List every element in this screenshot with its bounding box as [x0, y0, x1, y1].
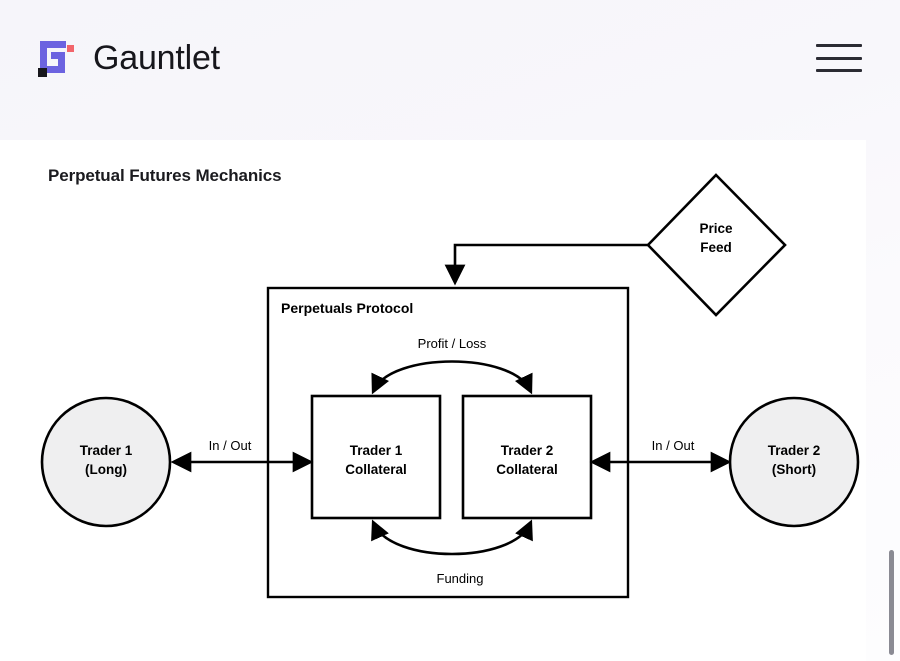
site-header: Gauntlet	[0, 0, 900, 116]
brand-name: Gauntlet	[93, 41, 220, 75]
brand-logo-group[interactable]: Gauntlet	[34, 36, 220, 80]
node-trader2-collateral[interactable]: Trader 2 Collateral	[463, 396, 591, 518]
left-in-out-label: In / Out	[209, 438, 252, 453]
menu-line-1	[816, 44, 862, 47]
trader1-label-line2: (Long)	[85, 462, 127, 477]
trader2-collateral-label-line1: Trader 2	[501, 443, 554, 458]
menu-line-2	[816, 57, 862, 60]
node-trader1-collateral[interactable]: Trader 1 Collateral	[312, 396, 440, 518]
protocol-group-label: Perpetuals Protocol	[281, 300, 413, 316]
trader2-label-line1: Trader 2	[768, 443, 821, 458]
node-price-feed[interactable]: Price Feed	[648, 175, 785, 315]
price-feed-arrow-path	[455, 245, 648, 282]
right-in-out-label: In / Out	[652, 438, 695, 453]
gauntlet-g-logo-icon	[34, 36, 76, 80]
price-feed-label-line1: Price	[699, 221, 733, 236]
menu-line-3	[816, 69, 862, 72]
edge-price-feed-to-protocol	[455, 245, 648, 282]
funding-label: Funding	[437, 571, 484, 586]
profit-loss-label: Profit / Loss	[418, 336, 487, 351]
page-root: Gauntlet Perpetual Futures Mechanics	[0, 0, 900, 661]
trader1-collateral-label-line1: Trader 1	[350, 443, 403, 458]
trader2-label-line2: (Short)	[772, 462, 816, 477]
vertical-scrollbar-thumb[interactable]	[889, 550, 894, 655]
trader1-collateral-label-line2: Collateral	[345, 462, 407, 477]
node-trader1[interactable]: Trader 1 (Long)	[42, 398, 170, 526]
vertical-scrollbar-track[interactable]	[888, 0, 898, 661]
diagram-canvas: Price Feed Perpetuals Protocol Trader 1 …	[0, 140, 866, 610]
perpetual-futures-diagram: Price Feed Perpetuals Protocol Trader 1 …	[0, 140, 866, 610]
hamburger-menu-icon[interactable]	[816, 40, 862, 76]
trader2-collateral-label-line2: Collateral	[496, 462, 558, 477]
trader1-label-line1: Trader 1	[80, 443, 133, 458]
node-trader2[interactable]: Trader 2 (Short)	[730, 398, 858, 526]
price-feed-label-line2: Feed	[700, 240, 732, 255]
